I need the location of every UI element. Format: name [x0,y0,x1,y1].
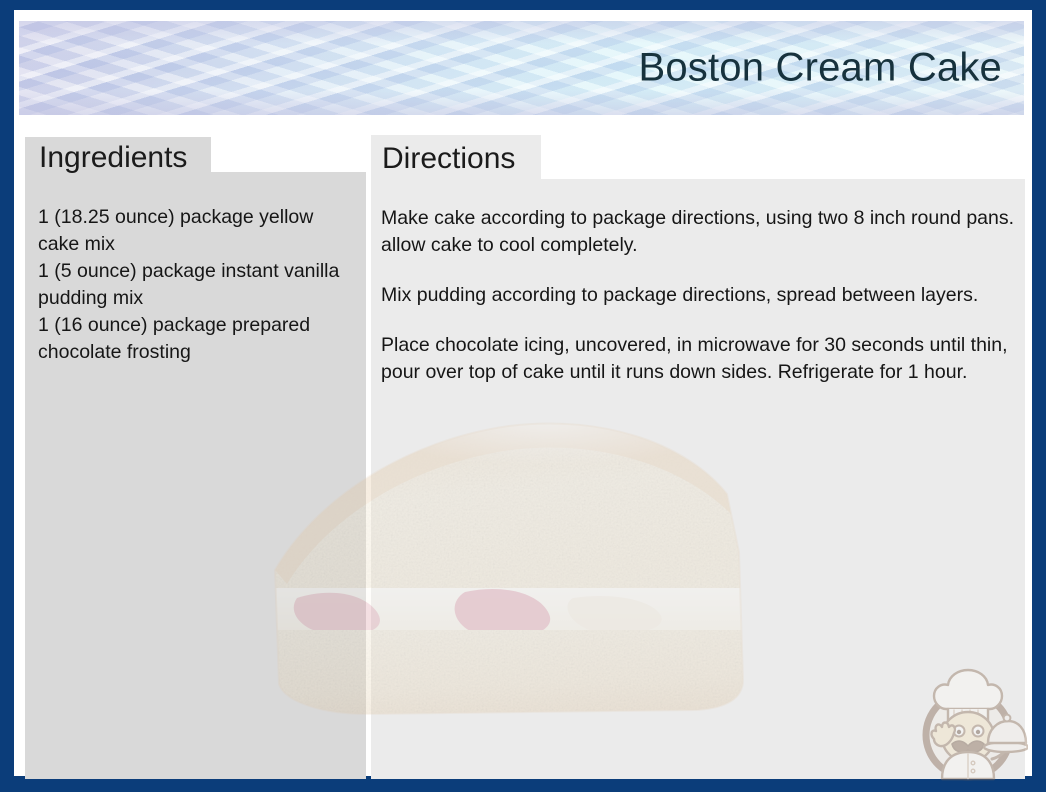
directions-heading: Directions [382,142,515,176]
ingredients-heading: Ingredients [39,141,187,175]
direction-step: Mix pudding according to package directi… [381,282,1029,309]
list-item: 1 (18.25 ounce) package yellow cake mix [38,204,356,258]
slide-canvas: Boston Cream Cake Ingredients Directions [14,10,1032,776]
list-item: 1 (5 ounce) package instant vanilla pudd… [38,258,356,312]
direction-step: Place chocolate icing, uncovered, in mic… [381,332,1029,386]
directions-steps: Make cake according to package direction… [381,205,1029,386]
ingredients-list: 1 (18.25 ounce) package yellow cake mix … [38,204,356,366]
header-banner: Boston Cream Cake [19,21,1024,115]
list-item: 1 (16 ounce) package prepared chocolate … [38,312,356,366]
direction-step: Make cake according to package direction… [381,205,1029,259]
slide-frame: Boston Cream Cake Ingredients Directions [0,0,1046,792]
page-title: Boston Cream Cake [638,46,1002,91]
